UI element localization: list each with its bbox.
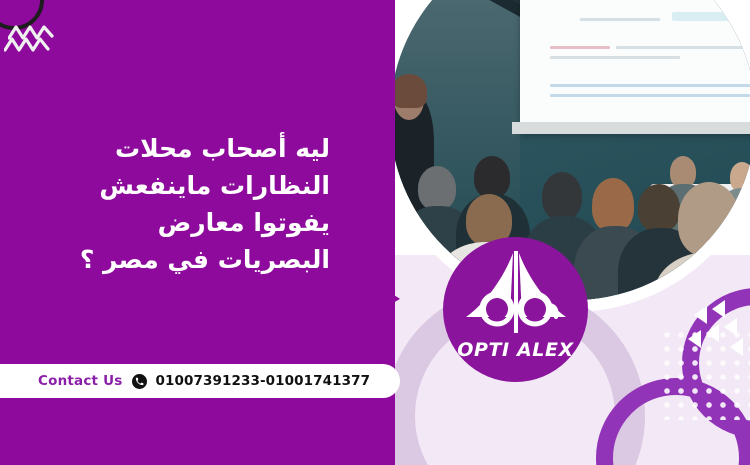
contact-phone-numbers: 01007391233-01001741377 xyxy=(156,373,371,389)
chevron-icon-1 xyxy=(712,300,725,318)
logo-text: OPTI ALEX xyxy=(457,339,574,361)
headline-line-4: البصريات في مصر ؟ xyxy=(30,241,330,278)
chevron-icon-4 xyxy=(706,324,719,342)
chevron-icon-5 xyxy=(688,330,701,348)
headline: ليه أصحاب محلات النظارات ماينفعش يفوتوا … xyxy=(30,130,330,278)
chevron-icon-2 xyxy=(694,306,707,324)
contact-bar[interactable]: Contact Us 01007391233-01001741377 xyxy=(0,364,400,398)
zigzag-line-icon-2 xyxy=(4,36,54,62)
phone-icon xyxy=(132,374,147,389)
chevron-icon-6 xyxy=(730,338,743,356)
chevron-icon-3 xyxy=(724,318,737,336)
headline-line-3: يفوتوا معارض xyxy=(30,204,330,241)
headline-line-1: ليه أصحاب محلات xyxy=(30,130,330,167)
promo-banner: ليه أصحاب محلات النظارات ماينفعش يفوتوا … xyxy=(0,0,750,465)
contact-label: Contact Us xyxy=(38,373,123,389)
sail-with-eyeglasses-icon xyxy=(460,251,572,337)
logo[interactable]: OPTI ALEX xyxy=(443,237,588,382)
headline-line-2: النظارات ماينفعش xyxy=(30,167,330,204)
